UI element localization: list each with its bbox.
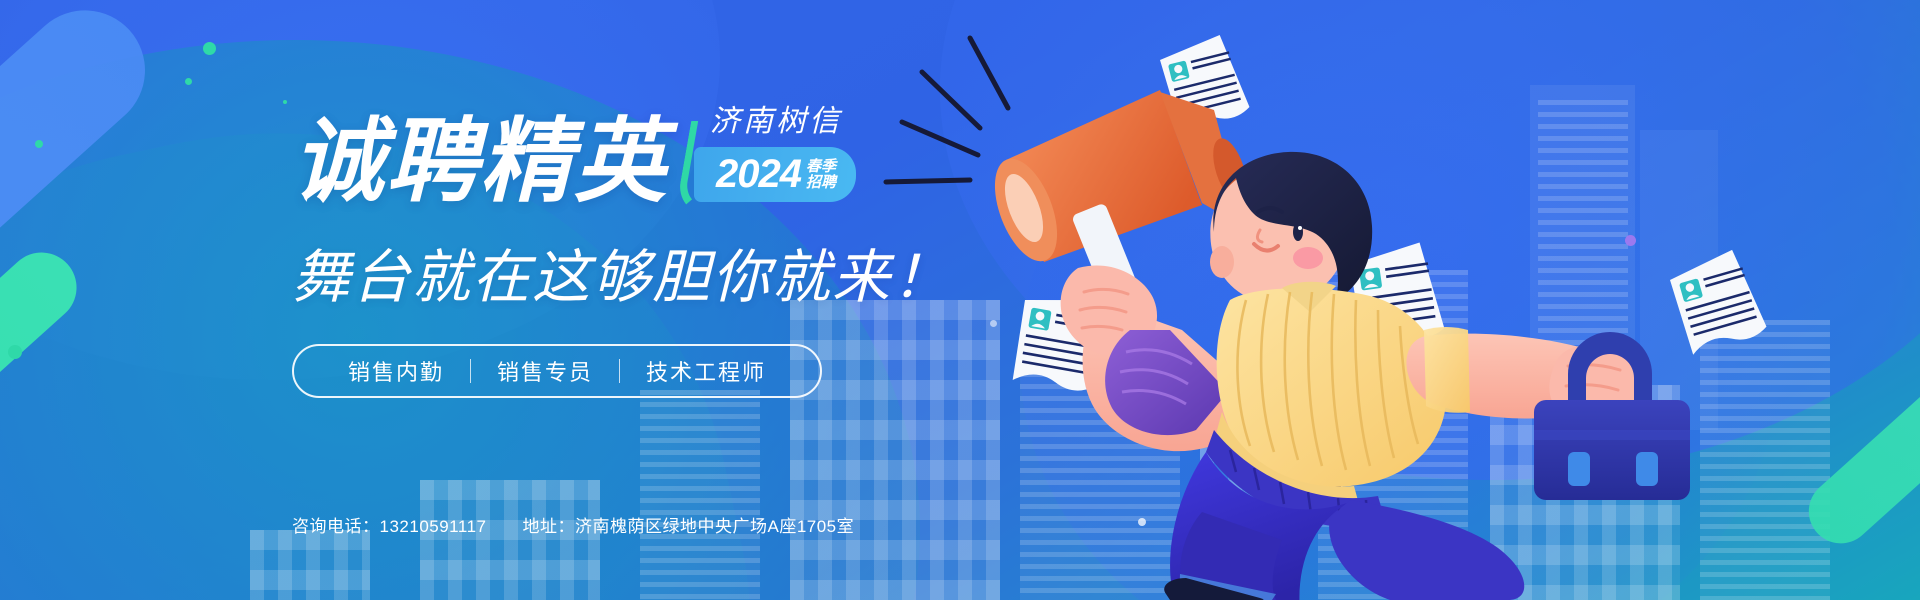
contact-phone: 咨询电话：13210591117 [292, 512, 486, 537]
decor-dot [8, 345, 22, 359]
contact-info: 咨询电话：13210591117 地址：济南槐荫区绿地中央广场A座1705室 [292, 512, 854, 537]
page-title: 诚聘精英 [292, 116, 668, 208]
building [420, 480, 600, 600]
character-head [1210, 152, 1372, 304]
building [640, 390, 760, 600]
decor-dot [203, 42, 216, 55]
character-blush [1293, 247, 1323, 269]
job-tag-sales-assistant[interactable]: 销售内勤 [322, 355, 470, 387]
job-tags-pill: 销售内勤 销售专员 技术工程师 [292, 344, 822, 398]
job-tag-technical-engineer[interactable]: 技术工程师 [620, 355, 792, 387]
character-illustration [830, 0, 1920, 600]
resume-paper-icon [1667, 247, 1769, 356]
badge-year: 2024 [716, 154, 801, 194]
building [250, 530, 370, 600]
recruitment-banner: 诚聘精英 济南树信 2024 春季 招聘 舞台就在这够胆你就来！ 销售内勤 销售… [0, 0, 1920, 600]
sound-lines [886, 38, 1008, 182]
character-eye [1293, 223, 1303, 241]
contact-address: 地址：济南槐荫区绿地中央广场A座1705室 [522, 512, 854, 537]
decor-dot [35, 140, 43, 148]
decor-dot [185, 78, 192, 85]
job-tag-sales-specialist[interactable]: 销售专员 [471, 355, 619, 387]
decor-dot [283, 100, 287, 104]
